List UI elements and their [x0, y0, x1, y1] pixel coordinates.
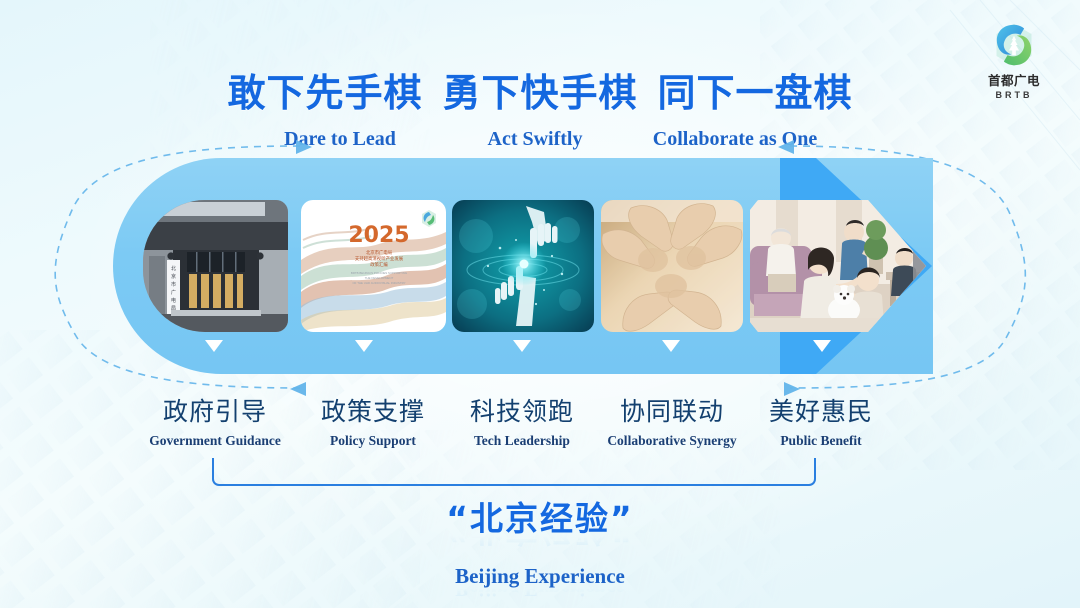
- pillar-5-cn: 美好惠民: [745, 392, 897, 428]
- svg-text:BRTB BEIJING'S POLICIES SUPPOR: BRTB BEIJING'S POLICIES SUPPORTING: [351, 271, 408, 275]
- pillar-3[interactable]: 科技领跑 Tech Leadership: [441, 392, 603, 449]
- svg-text:电: 电: [171, 297, 176, 304]
- down-arrow-icon-2: [355, 340, 373, 352]
- svg-text:政策汇编: 政策汇编: [370, 261, 388, 268]
- svg-text:京: 京: [171, 273, 176, 280]
- pillar-4-en: Collaborative Synergy: [583, 433, 761, 449]
- svg-text:2025: 2025: [348, 223, 409, 248]
- headline-english: Dare to Lead Act Swiftly Collaborate as …: [0, 128, 1080, 151]
- svg-text:市: 市: [171, 281, 176, 288]
- headline-chinese: 敢下先手棋勇下快手棋同下一盘棋: [0, 62, 1080, 117]
- headline: 敢下先手棋勇下快手棋同下一盘棋 Dare to Lead Act Swiftly…: [0, 62, 1080, 151]
- down-arrow-icon-5: [813, 340, 831, 352]
- svg-text:广: 广: [171, 289, 176, 296]
- footer-en-reflection: Beijing Experience: [0, 588, 1080, 601]
- photo-card-row: 北京市 广电局: [0, 158, 1080, 374]
- pillar-3-en: Tech Leadership: [441, 433, 603, 449]
- card-family-living-room[interactable]: [750, 200, 926, 332]
- headline-en-part-1: Dare to Lead: [240, 128, 440, 151]
- footer-cn-reflection: “北京经验”: [0, 534, 1080, 556]
- pillar-4-cn: 协同联动: [583, 392, 761, 428]
- footer-cn: “北京经验”: [0, 492, 1080, 540]
- svg-text:北京市广电局: 北京市广电局: [366, 249, 392, 256]
- summary-bracket: [212, 458, 816, 486]
- footer-en: Beijing Experience: [0, 564, 1080, 589]
- pillar-2[interactable]: 政策支撑 Policy Support: [291, 392, 455, 449]
- footer-conclusion: “北京经验” “北京经验” Beijing Experience Beijing…: [0, 492, 1080, 601]
- pillar-3-cn: 科技领跑: [441, 392, 603, 428]
- card-government-building[interactable]: 北京市 广电局: [143, 200, 288, 332]
- pillar-5-en: Public Benefit: [745, 433, 897, 449]
- pillar-1-en: Government Guidance: [129, 433, 301, 449]
- headline-cn-part-1: 敢下先手棋: [227, 71, 422, 115]
- card-policy-document[interactable]: 2025 北京市广电局 支持超高清视听产业发展 政策汇编 BRTB BEIJIN…: [301, 200, 446, 332]
- headline-cn-part-3: 同下一盘棋: [658, 71, 853, 115]
- card-collaborative-hands[interactable]: [601, 200, 743, 332]
- process-band: 北京市 广电局: [0, 158, 1080, 374]
- pillar-2-en: Policy Support: [291, 433, 455, 449]
- svg-text:北: 北: [171, 265, 176, 272]
- pillar-1-cn: 政府引导: [129, 392, 301, 428]
- svg-text:OF THE UHD AUDIOVISUAL INDUSTR: OF THE UHD AUDIOVISUAL INDUSTRY: [352, 281, 405, 285]
- card-tech-leadership[interactable]: [452, 200, 594, 332]
- pillar-4[interactable]: 协同联动 Collaborative Synergy: [583, 392, 761, 449]
- headline-en-part-2: Act Swiftly: [440, 128, 630, 151]
- down-arrow-icon-1: [205, 340, 223, 352]
- pillar-1[interactable]: 政府引导 Government Guidance: [129, 392, 301, 449]
- pillar-label-row: 政府引导 Government Guidance 政策支撑 Policy Sup…: [0, 392, 1080, 452]
- down-arrow-icon-4: [662, 340, 680, 352]
- pillar-5[interactable]: 美好惠民 Public Benefit: [745, 392, 897, 449]
- svg-text:支持超高清视听产业发展: 支持超高清视听产业发展: [355, 255, 404, 262]
- headline-en-part-3: Collaborate as One: [630, 128, 840, 151]
- pillar-2-cn: 政策支撑: [291, 392, 455, 428]
- headline-cn-part-2: 勇下快手棋: [442, 71, 637, 115]
- svg-text:THE DEVELOPMENT: THE DEVELOPMENT: [365, 276, 394, 280]
- down-arrow-icon-3: [513, 340, 531, 352]
